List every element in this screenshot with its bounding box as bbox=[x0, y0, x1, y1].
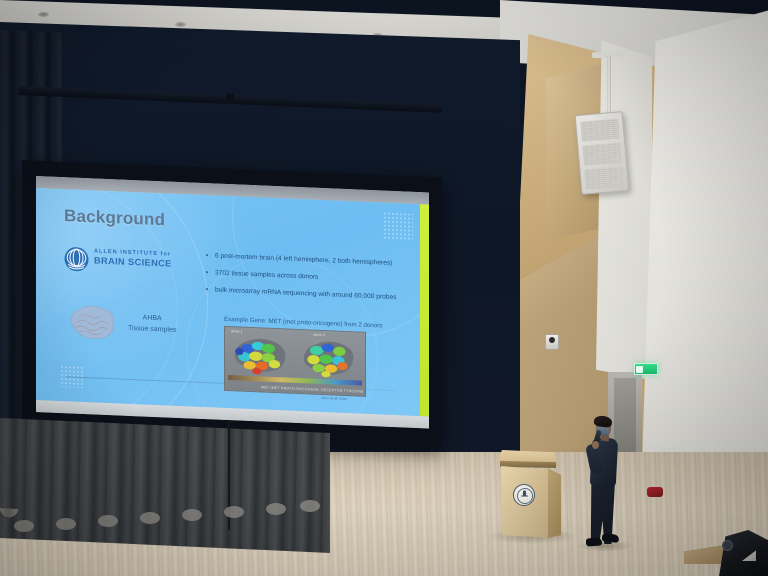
curtain-hem-scallop bbox=[14, 520, 34, 532]
exit-sign-icon bbox=[634, 363, 658, 375]
brain-caption: AHBA Tissue samples bbox=[128, 312, 176, 336]
allen-institute-brain-mark bbox=[64, 246, 89, 272]
red-object bbox=[647, 487, 663, 497]
figure-panel-right-label: donor 2 bbox=[314, 333, 326, 337]
wall-column bbox=[596, 40, 652, 380]
screen-roller-knob bbox=[226, 94, 234, 101]
presentation-slide: Background ALLEN INSTITUTE for BRAIN SCI bbox=[36, 188, 429, 416]
brain-illustration-icon bbox=[66, 301, 118, 343]
camera-lens-icon bbox=[722, 540, 733, 551]
projection-screen-surface: Background ALLEN INSTITUTE for BRAIN SCI bbox=[36, 176, 429, 428]
ceiling-speaker-icon bbox=[575, 111, 630, 195]
downlight-icon bbox=[175, 22, 186, 27]
curtain-hem-scallop bbox=[56, 518, 76, 530]
curtain-hem-scallop bbox=[182, 509, 202, 521]
list-item: bulk microarray mRNA sequencing with aro… bbox=[206, 285, 411, 303]
dot-grid-decor-top-right bbox=[383, 212, 413, 241]
brain-heatmap-right bbox=[297, 337, 359, 382]
slide-title: Background bbox=[64, 206, 165, 230]
downlight-icon bbox=[38, 12, 49, 17]
curtain-hem-scallop bbox=[98, 515, 118, 527]
list-item: 3702 tissue samples across donors bbox=[206, 268, 411, 286]
curtain-hem-scallop bbox=[300, 500, 320, 512]
presenter-shoe bbox=[586, 537, 603, 546]
figure-panel-left-label: donor 1 bbox=[231, 329, 243, 333]
brain-heatmap-left bbox=[229, 334, 291, 379]
wall-camera-icon bbox=[545, 334, 559, 350]
presenter-shoe bbox=[602, 533, 620, 543]
lecture-hall-photo: Background ALLEN INSTITUTE for BRAIN SCI bbox=[0, 0, 768, 576]
speaker-pole bbox=[607, 56, 611, 118]
curtain-hem-scallop bbox=[266, 503, 286, 515]
slide-accent-bar bbox=[420, 204, 429, 416]
gene-expression-figure: donor 1 donor 2 bbox=[224, 326, 366, 397]
curtain-hem-scallop bbox=[140, 512, 160, 524]
podium-emblem-icon bbox=[513, 484, 535, 506]
podium-side bbox=[548, 468, 561, 538]
curtain-hem-scallop bbox=[224, 506, 244, 518]
brain-caption-line-2: Tissue samples bbox=[128, 323, 176, 336]
figure-colorbar-label: MET (MET PROTO-ONCOGENE, RECEPTOR TYROSI… bbox=[261, 385, 366, 394]
presenter-hand bbox=[592, 441, 599, 449]
allen-institute-logo: ALLEN INSTITUTE for BRAIN SCIENCE bbox=[64, 246, 184, 277]
slide-bullet-list: 6 post-mortem brain (4 left hemisphere, … bbox=[206, 251, 411, 311]
